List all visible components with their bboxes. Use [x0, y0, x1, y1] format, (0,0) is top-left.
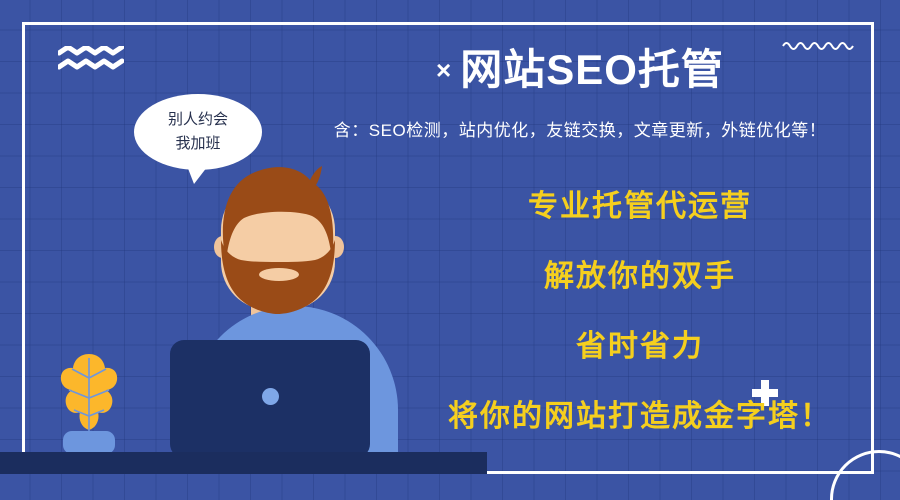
- mouth: [259, 268, 299, 281]
- laptop-logo-icon: [262, 388, 279, 405]
- potted-plant-icon: [58, 352, 120, 438]
- plant-pot: [63, 431, 115, 454]
- speech-bubble: 别人约会 我加班: [134, 94, 262, 170]
- speech-bubble-line-1: 别人约会: [134, 108, 262, 132]
- seo-promo-banner: ×网站SEO托管 含：SEO检测，站内优化，友链交换，文章更新，外链优化等！ 专…: [0, 0, 900, 500]
- speech-bubble-text: 别人约会 我加班: [134, 108, 262, 156]
- desk-surface: [0, 452, 487, 474]
- speech-bubble-line-2: 我加班: [134, 132, 262, 156]
- person-illustration: [0, 0, 900, 500]
